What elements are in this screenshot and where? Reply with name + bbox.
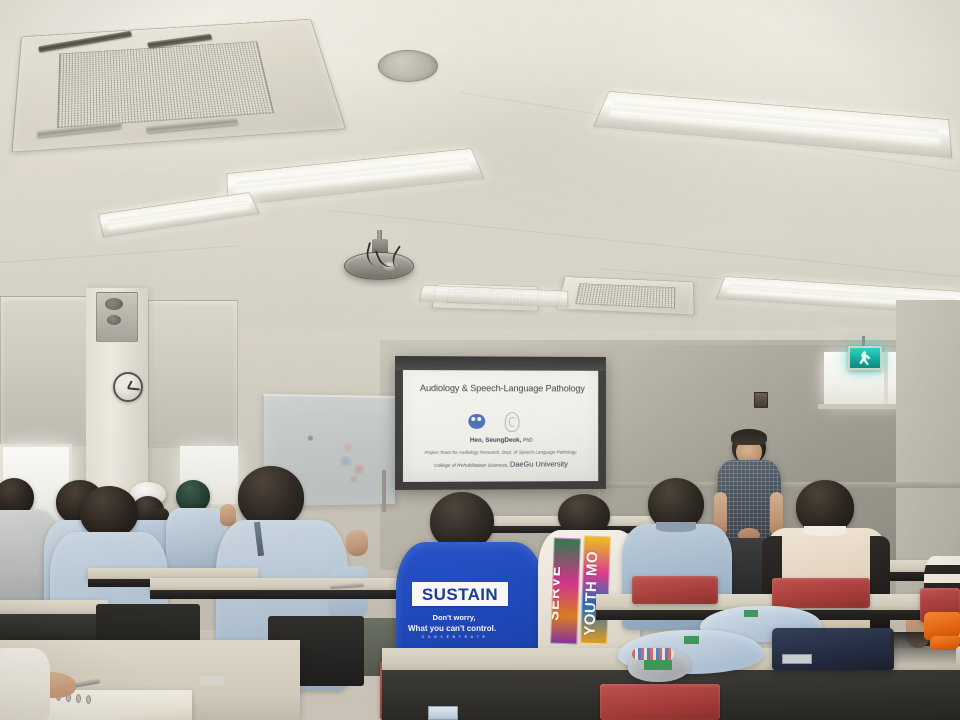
desk-row-left-front (0, 600, 108, 614)
presenter-hair (731, 429, 767, 445)
desk-row-left-mid (150, 578, 410, 590)
projection-screen: Audiology & Speech-Language Pathology He… (395, 356, 606, 490)
whiteboard-marking (349, 474, 359, 484)
slide-affiliation-line-1: Project Team for Audiology Research, Dep… (403, 450, 598, 455)
slide-presenter-name: Heo, SeungDeok, PhD (403, 437, 598, 444)
light-tube (428, 289, 561, 297)
person-head (80, 486, 138, 538)
person-head (238, 466, 304, 528)
notebook-spiral (76, 694, 81, 703)
person-hand (346, 530, 368, 556)
window-sill (818, 404, 908, 409)
whiteboard-stand (382, 470, 386, 512)
id-card (428, 706, 458, 720)
bag-label (782, 654, 812, 664)
running-man-icon (859, 351, 871, 365)
whiteboard-marking (308, 436, 313, 441)
right-wall-panel (896, 300, 960, 600)
whiteboard-marking (341, 442, 355, 454)
fire-alarm-box[interactable] (754, 392, 768, 408)
desk-edge (150, 590, 410, 599)
clothing-tag (684, 636, 699, 644)
sash-left-text: SERVE (550, 565, 564, 621)
presenter-degree-text: PhD (523, 438, 533, 444)
audiology-logo-icon (468, 414, 485, 429)
chair[interactable] (600, 684, 720, 720)
desk-apron (0, 614, 108, 640)
clock-hand-minute (128, 387, 140, 390)
ac-grille (575, 283, 675, 308)
ceiling-ac-unit (556, 276, 695, 315)
clothing-pattern (632, 648, 674, 660)
emergency-exit-sign (848, 346, 882, 370)
vest-stripe (870, 536, 890, 636)
chair-label (200, 676, 224, 685)
window-blind[interactable] (0, 296, 88, 446)
chair[interactable] (632, 576, 718, 604)
sustain-headline-box: SUSTAIN (412, 582, 508, 606)
window-blind[interactable] (148, 300, 238, 448)
speaker-cone (105, 298, 123, 310)
lecture-hall-photo: Audiology & Speech-Language Pathology He… (0, 0, 960, 720)
sustain-headline-text: SUSTAIN (412, 582, 508, 603)
clothing-tag (744, 610, 758, 617)
ear-outline-icon (505, 412, 520, 432)
speaker-cone (107, 315, 121, 325)
exit-sign-stem (862, 336, 865, 346)
sustain-line-1: Don't worry, (380, 614, 528, 623)
sash-left-panel: SERVE (550, 538, 581, 645)
presentation-slide: Audiology & Speech-Language Pathology He… (403, 370, 598, 482)
notebook-spiral (86, 695, 91, 704)
presenter-name-text: Heo, SeungDeok, (470, 437, 522, 444)
sustain-spaced-text: C O N C E N T R A T E (380, 635, 528, 639)
laptop-bag[interactable] (772, 628, 894, 670)
wall-speaker-icon (96, 292, 138, 342)
orange-garment (930, 636, 960, 650)
foreground-sleeve (0, 648, 50, 720)
collar (804, 526, 846, 536)
university-text: DaeGu University (510, 460, 568, 469)
sash-right-panel: YOUTH MO (580, 536, 611, 645)
window-mullion (884, 352, 888, 404)
slide-affiliation-line-2: College of Rehabilitation Sciences, DaeG… (403, 459, 598, 469)
chair-label (644, 660, 672, 670)
college-text: College of Rehabilitation Sciences, (434, 464, 509, 469)
collar (656, 522, 696, 532)
wall-clock (113, 372, 143, 402)
ceiling-speaker-icon (378, 50, 438, 82)
slide-title: Audiology & Speech-Language Pathology (412, 382, 592, 393)
screen-top-bar (395, 356, 606, 371)
sustain-line-2: What you can't control. (378, 624, 526, 633)
chair[interactable] (772, 578, 870, 608)
